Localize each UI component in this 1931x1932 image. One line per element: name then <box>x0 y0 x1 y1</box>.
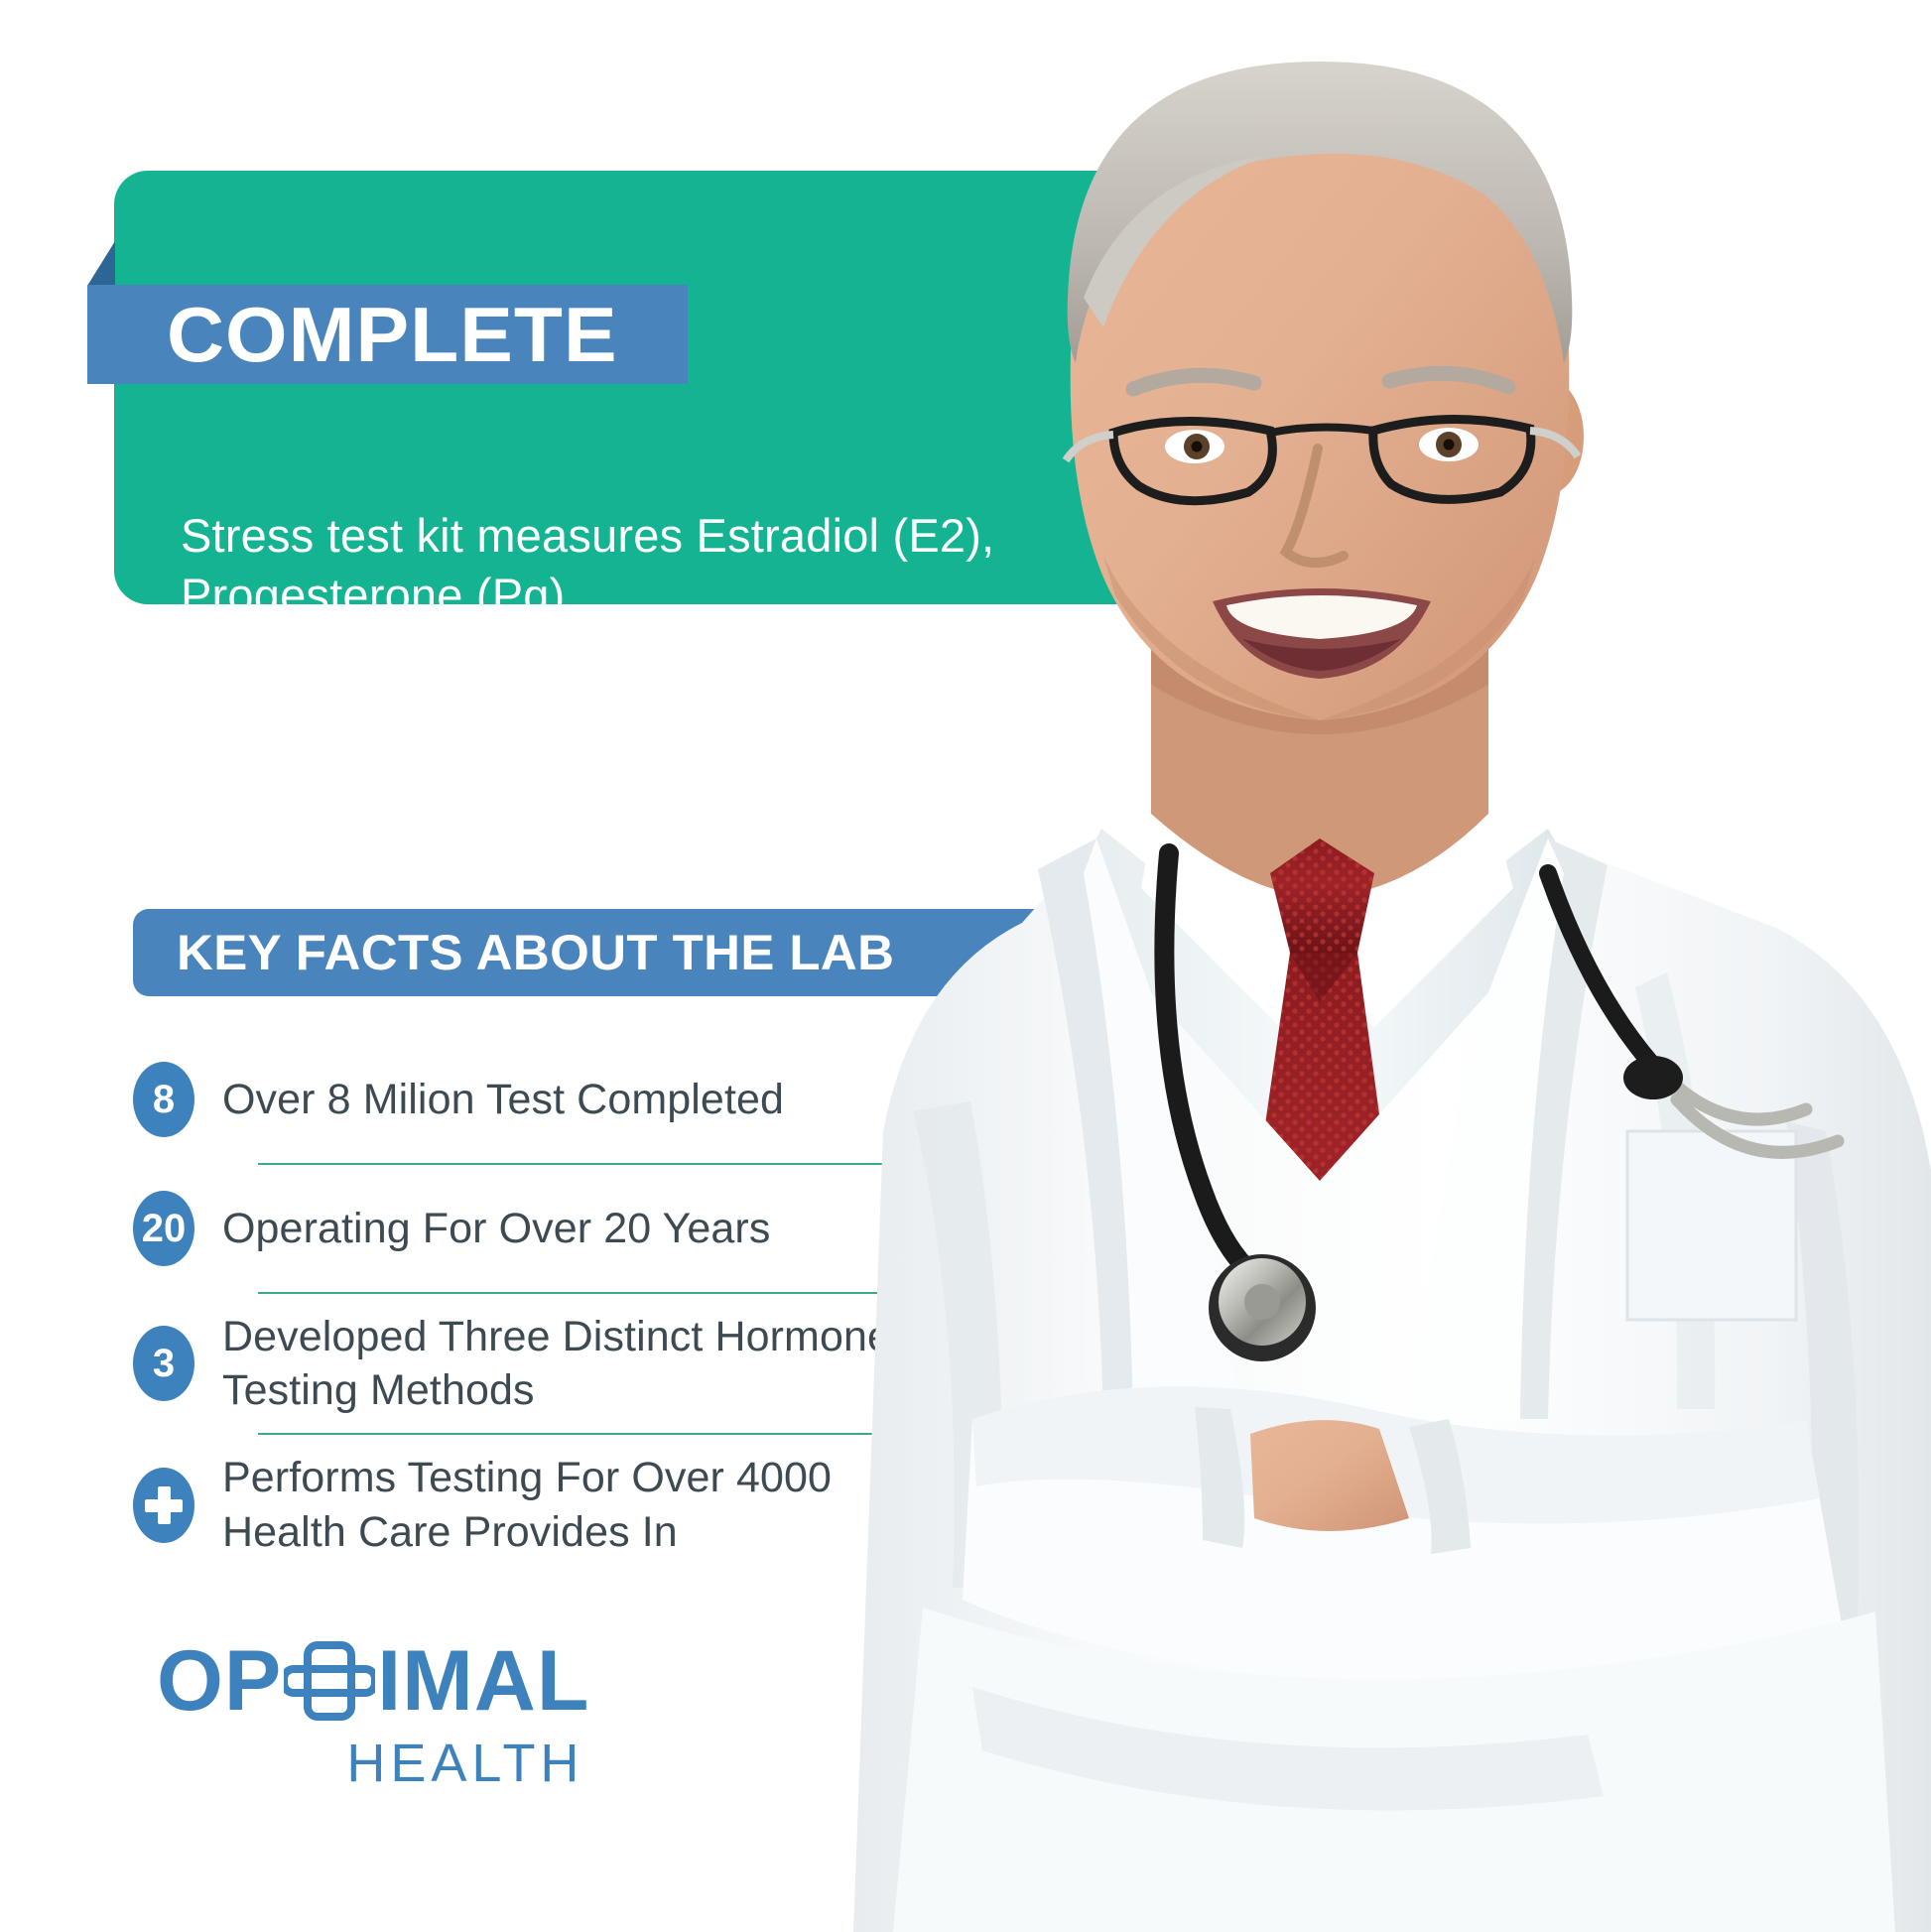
list-item: 20 Operating For Over 20 Years <box>133 1181 907 1276</box>
logo-subtitle: HEALTH <box>157 1733 589 1794</box>
fact-divider <box>258 1433 907 1435</box>
fact-badge-plus <box>133 1468 194 1543</box>
key-facts-heading-band: KEY FACTS ABOUT THE LAB <box>133 909 1056 996</box>
ribbon-fold-top <box>87 241 115 286</box>
complete-ribbon: COMPLETE <box>87 285 688 384</box>
medical-cross-icon <box>284 1635 375 1727</box>
logo-word-after: IMAL <box>377 1638 589 1724</box>
key-facts-list: 8 Over 8 Milion Test Completed 20 Operat… <box>133 1052 907 1559</box>
fact-text: Developed Three Distinct Hormone Testing… <box>222 1310 907 1417</box>
logo-word-before: OP <box>157 1638 282 1724</box>
logo-wordmark: OP IMAL <box>157 1635 589 1727</box>
plus-icon <box>145 1486 183 1524</box>
key-facts-heading-label: KEY FACTS ABOUT THE LAB <box>177 924 894 981</box>
brand-logo: OP IMAL HEALTH <box>157 1635 589 1794</box>
list-item: Performs Testing For Over 4000 Health Ca… <box>133 1451 907 1558</box>
fact-divider <box>258 1163 907 1165</box>
poster-canvas: COMPLETE Stress test kit measures Estrad… <box>0 0 1931 1932</box>
fact-text: Over 8 Milion Test Completed <box>222 1073 784 1126</box>
list-item: 8 Over 8 Milion Test Completed <box>133 1052 907 1147</box>
fact-badge-number: 3 <box>133 1326 194 1401</box>
fact-text: Performs Testing For Over 4000 Health Ca… <box>222 1451 907 1558</box>
ribbon-label: COMPLETE <box>167 296 618 373</box>
list-item: 3 Developed Three Distinct Hormone Testi… <box>133 1310 907 1417</box>
fact-badge-number: 20 <box>133 1191 194 1266</box>
fact-text: Operating For Over 20 Years <box>222 1202 770 1255</box>
fact-badge-number: 8 <box>133 1062 194 1137</box>
green-card-description: Stress test kit measures Estradiol (E2),… <box>181 506 1074 625</box>
fact-divider <box>258 1292 907 1294</box>
